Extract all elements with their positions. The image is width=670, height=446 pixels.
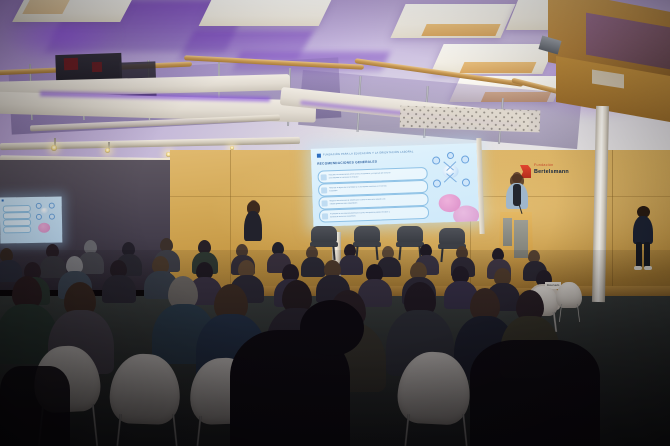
- ceiling-spotlight: [51, 145, 57, 151]
- skylight-panel: [199, 0, 332, 26]
- lectern-panel: [514, 220, 528, 258]
- projection-screen: FUNDACIÓN PARA LA EDUCACIÓN Y LA ORIENTA…: [311, 143, 480, 227]
- booth-marker: [92, 62, 102, 72]
- document-icon: [321, 174, 327, 180]
- standing-staff-right: [632, 206, 654, 278]
- flag-icon: [322, 213, 328, 219]
- presenter-speaking: [505, 172, 529, 216]
- logo-top-line: Fundación: [534, 163, 553, 167]
- slide-header: FUNDACIÓN PARA LA EDUCACIÓN Y LA ORIENTA…: [323, 150, 414, 156]
- slide-title: RECOMENDACIONES GENERALES: [317, 160, 377, 166]
- ceiling-spotlight: [105, 148, 110, 153]
- slide-logo-mark: [2, 199, 4, 201]
- secondary-screen: [0, 196, 62, 243]
- lectern-panel: [503, 218, 512, 246]
- network-brain-icon: [36, 203, 54, 219]
- foreground-silhouette: [0, 366, 70, 446]
- slide-surface: FUNDACIÓN PARA LA EDUCACIÓN Y LA ORIENTA…: [311, 143, 480, 227]
- people-icon: [321, 187, 327, 193]
- skylight-wood-inset: [421, 24, 500, 36]
- foreground-silhouette: [470, 340, 600, 446]
- wall-seam: [612, 150, 613, 290]
- booth-marker: [64, 58, 78, 70]
- standing-host-left: [243, 200, 263, 252]
- chart-icon: [321, 200, 327, 206]
- skylight-wood-inset: [22, 0, 69, 14]
- slide-logo-mark: [317, 154, 321, 158]
- network-brain-icon: [429, 151, 472, 190]
- logo-main-line: Bertelsmann: [534, 169, 569, 175]
- decor-blob: [38, 223, 50, 233]
- panel-chair: [353, 226, 381, 260]
- auditorium-photo: FUNDACIÓN PARA LA EDUCACIÓN Y LA ORIENTA…: [0, 0, 670, 446]
- presenter-top: [513, 184, 521, 206]
- panel-chair: [396, 226, 424, 260]
- foreground-silhouette: [300, 300, 364, 356]
- bertelsmann-logo: Fundación Bertelsmann: [520, 162, 600, 188]
- slide-bullet: Promover la orientación profesional como…: [319, 206, 429, 223]
- slide-bullet: [3, 226, 31, 233]
